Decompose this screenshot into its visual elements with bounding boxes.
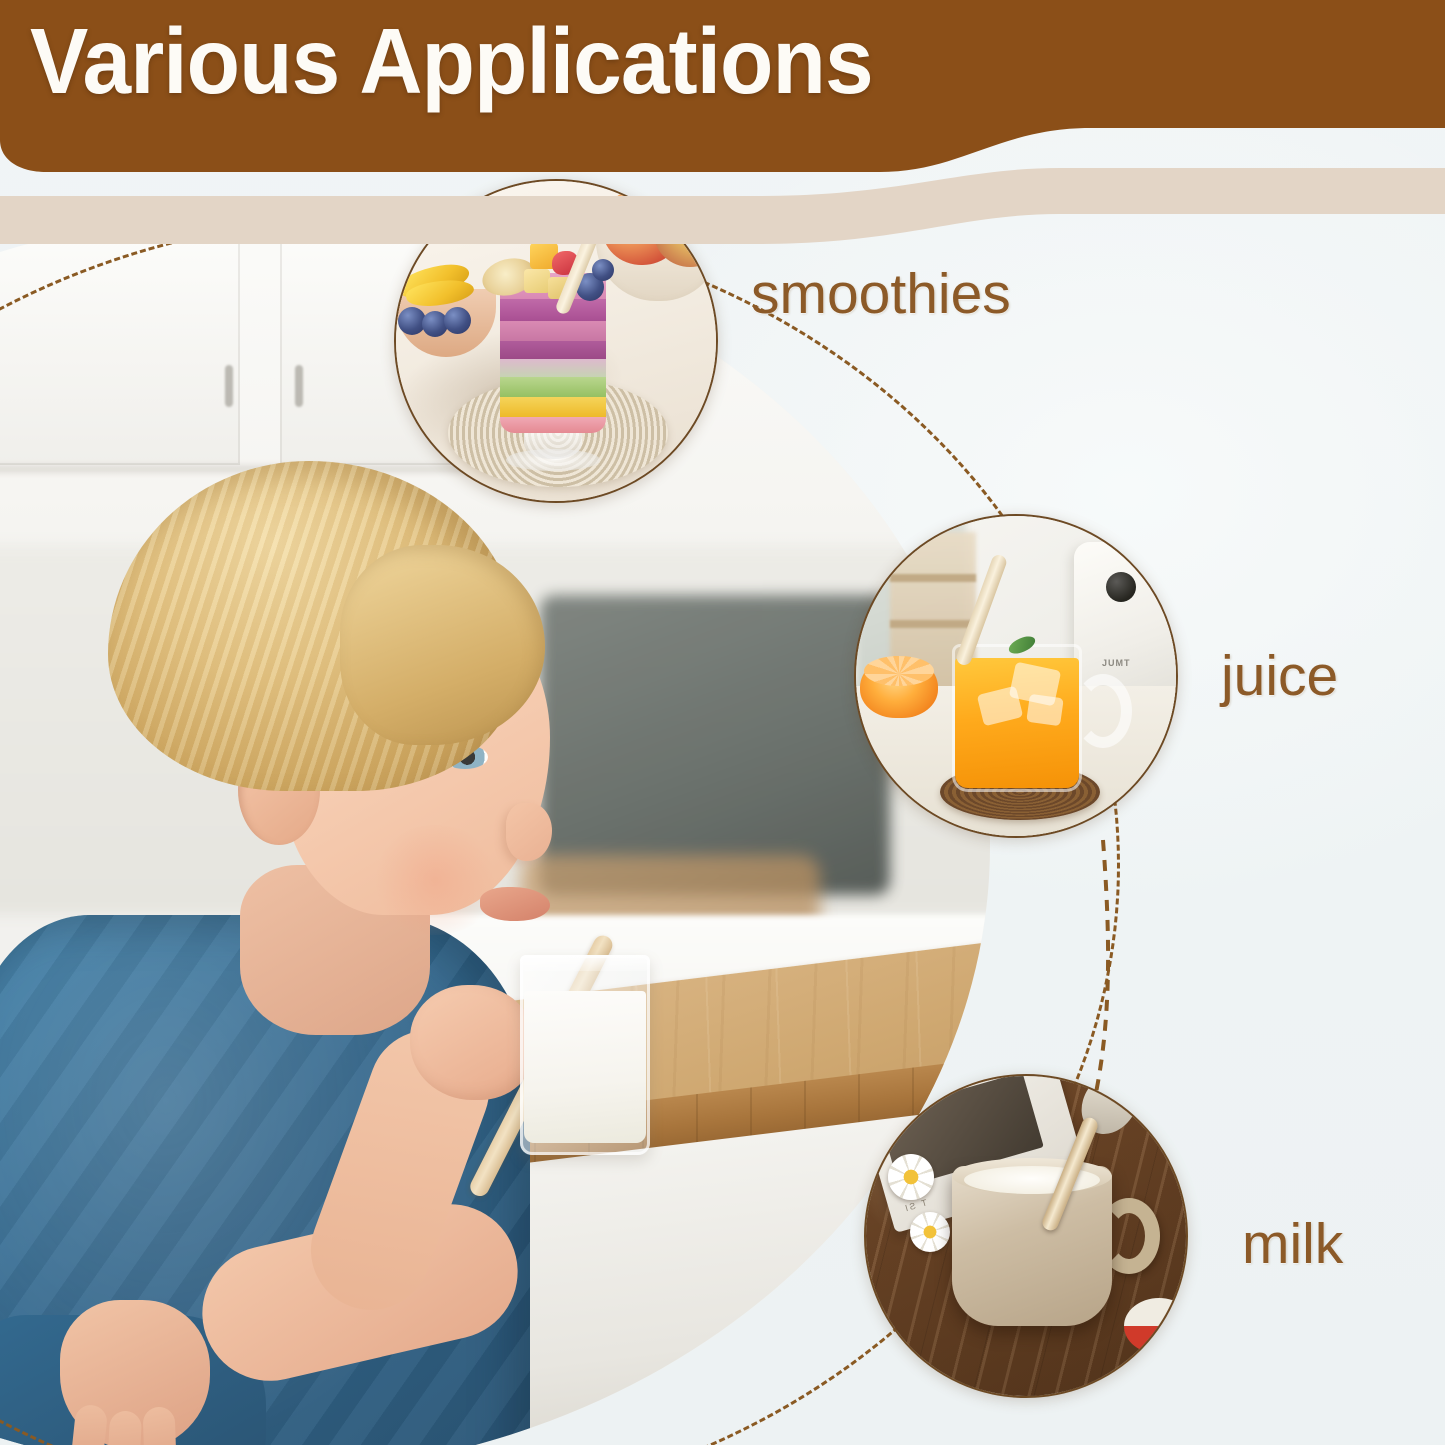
smoothie-scene bbox=[396, 181, 716, 501]
boy-fist bbox=[410, 985, 535, 1100]
smoothie-layer-blend bbox=[500, 359, 606, 377]
blueberry-garnish-2 bbox=[592, 259, 614, 281]
product-infographic: JUMT T SI bbox=[0, 0, 1445, 1445]
smoothie-layer-green bbox=[500, 377, 606, 397]
appliance-knob bbox=[1106, 572, 1136, 602]
book-cover-text: T SI bbox=[902, 1197, 928, 1213]
smoothie-layer-magenta bbox=[500, 299, 606, 321]
appliance-brand-text: JUMT bbox=[1102, 658, 1131, 668]
smoothie-layer-purple bbox=[500, 341, 606, 359]
blueberry-3 bbox=[444, 307, 471, 334]
page-title: Various Applications bbox=[30, 8, 873, 115]
smoothie-layer-pink bbox=[500, 321, 606, 341]
glass-mug bbox=[952, 644, 1082, 792]
mango-cube-2 bbox=[524, 269, 550, 293]
smoothie-layer-bottom bbox=[500, 417, 606, 433]
glass-stem bbox=[524, 429, 582, 459]
boy-lips bbox=[480, 887, 550, 921]
daisy-flower-2 bbox=[910, 1212, 950, 1252]
smoothie-layer-yellow bbox=[500, 397, 606, 417]
chair-rail-1 bbox=[890, 574, 976, 582]
label-juice: juice bbox=[1221, 648, 1338, 705]
boy-nose bbox=[506, 803, 552, 861]
label-milk: milk bbox=[1242, 1216, 1343, 1273]
milk-scene: T SI bbox=[866, 1076, 1186, 1396]
milk-circle-photo[interactable]: T SI bbox=[864, 1074, 1188, 1398]
milk-liquid bbox=[524, 991, 646, 1143]
chair-rail-2 bbox=[890, 620, 976, 628]
boy-cheek bbox=[370, 825, 500, 935]
daisy-flower-1 bbox=[888, 1154, 934, 1200]
orange-flesh bbox=[864, 656, 934, 686]
glass-mug-handle bbox=[1074, 674, 1132, 748]
smoothie-circle-photo[interactable] bbox=[394, 179, 718, 503]
glass-rim bbox=[520, 955, 650, 971]
apple-2 bbox=[654, 199, 718, 267]
label-smoothies: smoothies bbox=[751, 266, 1011, 323]
red-white-object bbox=[1124, 1298, 1188, 1354]
milk-glass bbox=[520, 955, 650, 1155]
juice-circle-photo[interactable]: JUMT bbox=[854, 514, 1178, 838]
ice-cube-3 bbox=[1026, 694, 1064, 726]
juice-scene: JUMT bbox=[856, 516, 1176, 836]
